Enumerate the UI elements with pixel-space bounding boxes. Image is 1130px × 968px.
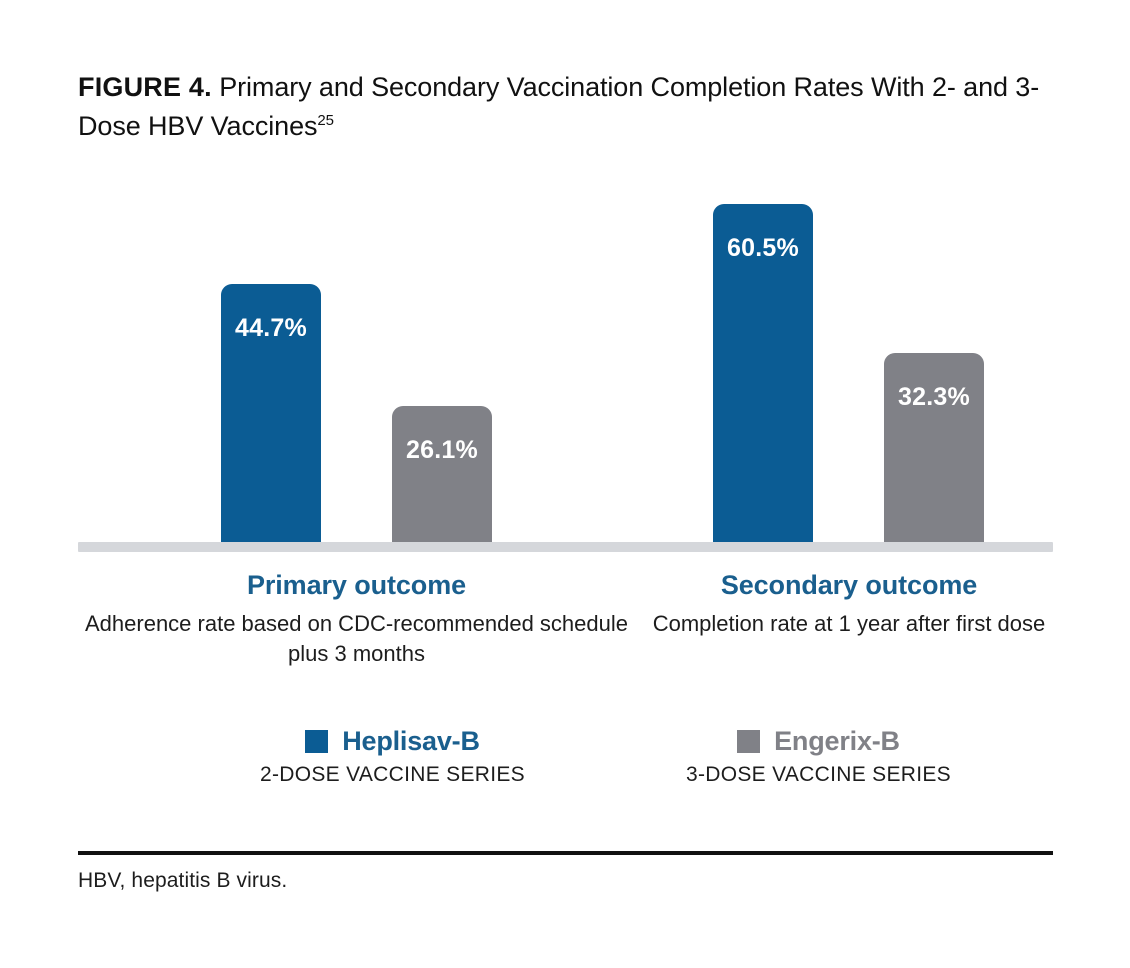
bar-value-label: 60.5% — [713, 234, 813, 263]
legend-item-engerix: Engerix-B 3-DOSE VACCINE SERIES — [590, 726, 1047, 787]
bar-primary-heplisav: 44.7% — [221, 284, 321, 543]
bar-value-label: 26.1% — [392, 436, 492, 465]
bar-chart-plot-area: 44.7% 26.1% 60.5% 32.3% Primary outcome … — [0, 0, 1130, 968]
legend-series-sublabel: 2-DOSE VACCINE SERIES — [140, 763, 645, 787]
group-title: Secondary outcome — [640, 568, 1058, 602]
figure-container: FIGURE 4. Primary and Secondary Vaccinat… — [0, 0, 1130, 968]
legend-item-heplisav: Heplisav-B 2-DOSE VACCINE SERIES — [140, 726, 645, 787]
bar-value-label: 32.3% — [884, 383, 984, 412]
group-subtitle: Adherence rate based on CDC-recommended … — [78, 609, 635, 669]
legend-series-name: Heplisav-B — [342, 726, 480, 757]
group-caption-secondary: Secondary outcome Completion rate at 1 y… — [640, 568, 1058, 639]
figure-footnote: HBV, hepatitis B virus. — [78, 869, 287, 893]
blue-square-swatch-icon — [305, 730, 328, 753]
footer-divider — [78, 851, 1053, 855]
gray-square-swatch-icon — [737, 730, 760, 753]
legend-series-sublabel: 3-DOSE VACCINE SERIES — [590, 763, 1047, 787]
bar-primary-engerix: 26.1% — [392, 406, 492, 543]
bar-value-label: 44.7% — [221, 314, 321, 343]
legend-heading-row: Heplisav-B — [140, 726, 645, 757]
legend-series-name: Engerix-B — [774, 726, 900, 757]
group-title: Primary outcome — [78, 568, 635, 602]
legend-heading-row: Engerix-B — [590, 726, 1047, 757]
bar-secondary-engerix: 32.3% — [884, 353, 984, 543]
group-caption-primary: Primary outcome Adherence rate based on … — [78, 568, 635, 669]
chart-baseline — [78, 542, 1053, 552]
bar-secondary-heplisav: 60.5% — [713, 204, 813, 543]
group-subtitle: Completion rate at 1 year after first do… — [640, 609, 1058, 639]
